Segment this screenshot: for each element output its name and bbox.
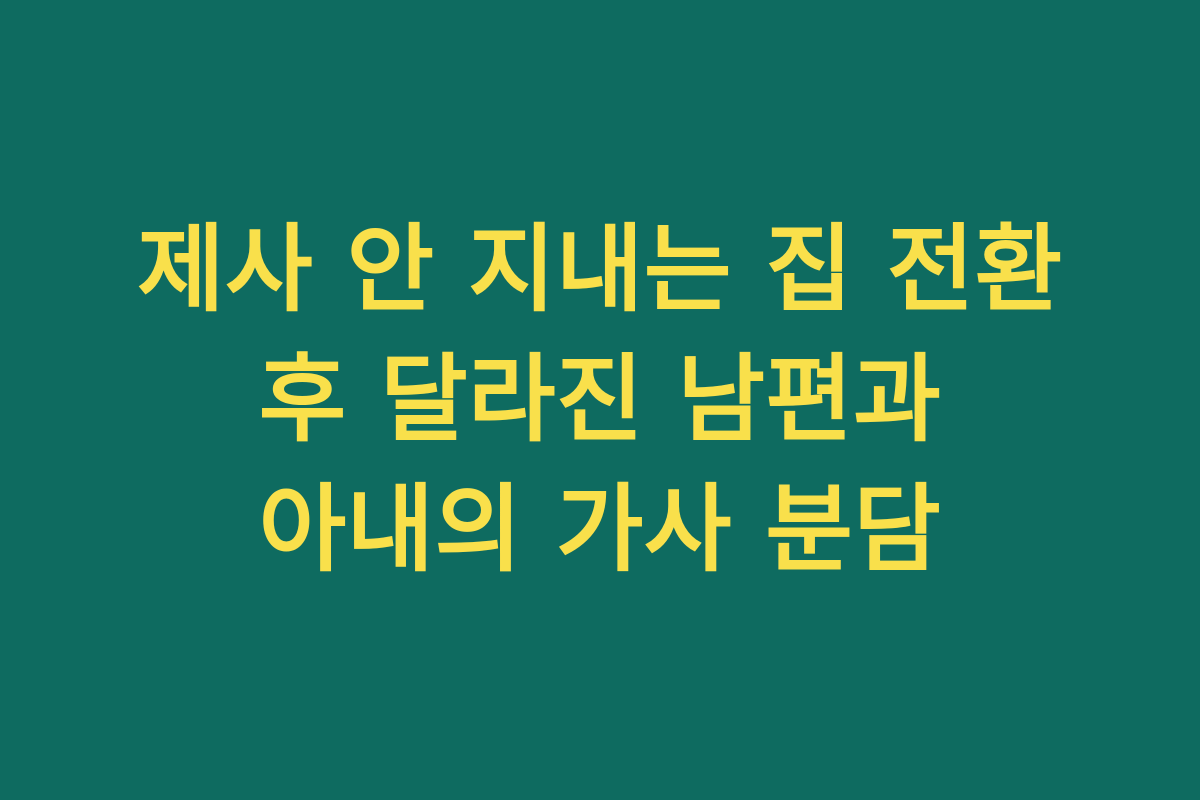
headline-block: 제사 안 지내는 집 전환 후 달라진 남편과 아내의 가사 분담 — [105, 205, 1095, 595]
poster-canvas: 제사 안 지내는 집 전환 후 달라진 남편과 아내의 가사 분담 — [0, 0, 1200, 800]
headline-title: 제사 안 지내는 집 전환 후 달라진 남편과 아내의 가사 분담 — [113, 205, 1087, 595]
